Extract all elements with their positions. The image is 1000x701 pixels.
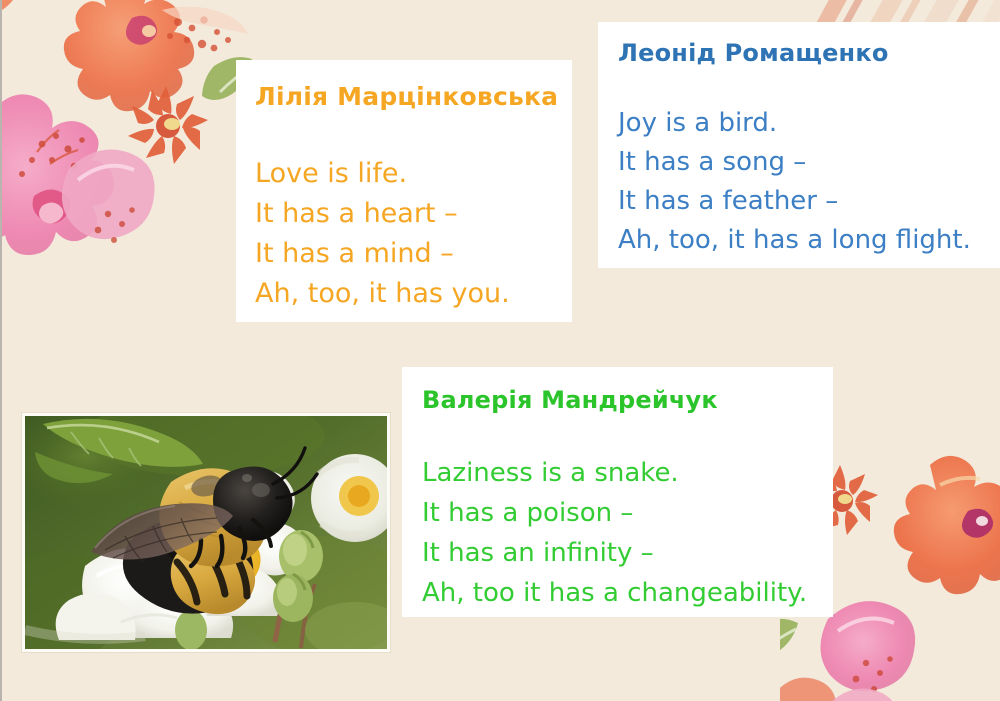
poem-author-liliya: Лілія Марцінковська [255,82,572,112]
poem-line: Ah, too, it has a long flight. [618,221,1000,260]
watercolor-flowers-top-left-icon [0,0,252,264]
poem-card-valeriya: Валерія Мандрейчук Laziness is a snake. … [402,367,833,617]
slide-left-edge [0,0,2,701]
poem-line: It has a poison – [422,493,833,533]
poem-line: Ah, too, it has you. [255,274,572,314]
poem-line: Ah, too it has a changeability. [422,573,833,613]
slide-canvas: Лілія Марцінковська Love is life. It has… [0,0,1000,701]
poem-line: It has an infinity – [422,533,833,573]
poem-body-liliya: Love is life. It has a heart – It has a … [255,154,572,314]
poem-card-leonid: Леонід Ромащенко Joy is a bird. It has a… [598,22,1000,268]
poem-body-valeriya: Laziness is a snake. It has a poison – I… [422,453,833,613]
poem-line: It has a song – [618,143,1000,182]
poem-body-leonid: Joy is a bird. It has a song – It has a … [618,104,1000,260]
bee-on-rose-image [25,416,387,649]
poem-line: Joy is a bird. [618,104,1000,143]
poem-line: It has a feather – [618,182,1000,221]
poem-author-valeriya: Валерія Мандрейчук [422,385,833,415]
poem-author-leonid: Леонід Ромащенко [618,38,1000,68]
bee-photo [22,413,390,652]
poem-card-liliya: Лілія Марцінковська Love is life. It has… [236,60,572,322]
poem-line: Laziness is a snake. [422,453,833,493]
poem-line: It has a heart – [255,194,572,234]
poem-line: It has a mind – [255,234,572,274]
poem-line: Love is life. [255,154,572,194]
